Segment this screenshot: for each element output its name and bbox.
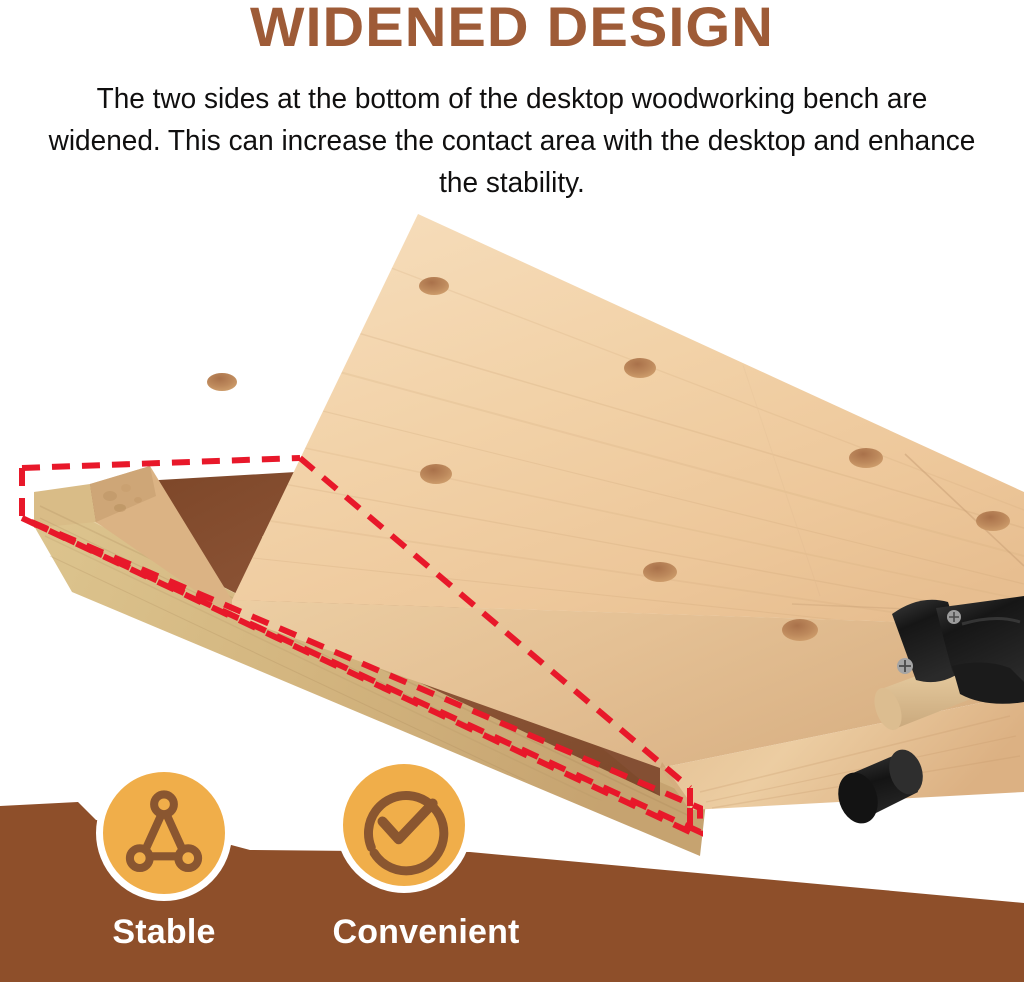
dog-hole	[624, 358, 656, 378]
badge-label-stable: Stable	[62, 913, 266, 952]
product-photo	[0, 196, 1024, 856]
marketing-image: WIDENED DESIGN The two sides at the bott…	[0, 0, 1024, 982]
dog-hole	[849, 448, 883, 468]
badge-label-convenient: Convenient	[296, 913, 556, 952]
description-text: The two sides at the bottom of the deskt…	[41, 78, 983, 204]
badge-convenient[interactable]	[336, 757, 472, 893]
dog-hole	[420, 464, 452, 484]
badge-stable[interactable]	[96, 765, 232, 901]
dog-hole	[419, 277, 449, 295]
dog-hole	[782, 619, 818, 641]
dog-hole	[976, 511, 1010, 531]
triangle-nodes-icon	[103, 772, 225, 894]
page-title: WIDENED DESIGN	[0, 0, 1024, 57]
check-circle-icon	[343, 764, 465, 886]
dog-hole	[643, 562, 677, 582]
dog-hole	[207, 373, 237, 391]
